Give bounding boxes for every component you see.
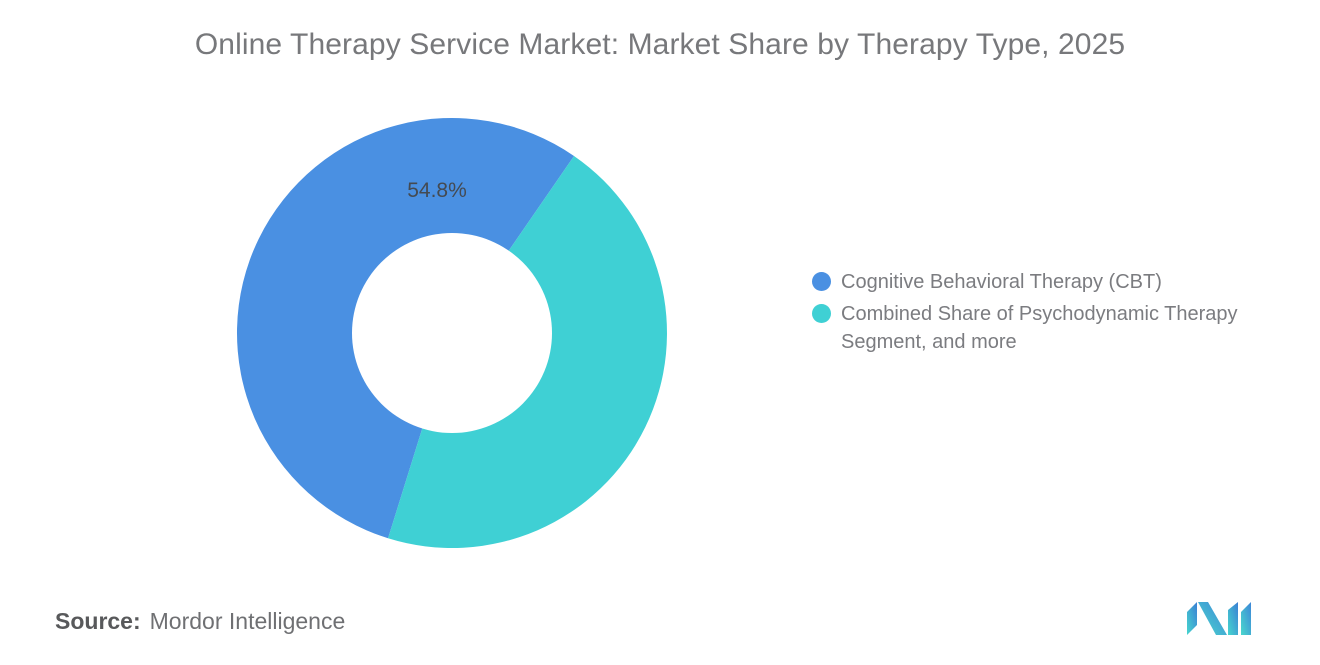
donut-chart-svg <box>237 118 667 548</box>
donut-hole <box>352 233 552 433</box>
source-value: Mordor Intelligence <box>150 608 346 635</box>
chart-page: Online Therapy Service Market: Market Sh… <box>0 0 1320 665</box>
legend-label-combined: Combined Share of Psychodynamic Therapy … <box>841 300 1298 356</box>
legend-label-cbt: Cognitive Behavioral Therapy (CBT) <box>841 268 1162 296</box>
legend: Cognitive Behavioral Therapy (CBT) Combi… <box>812 268 1298 360</box>
donut-chart: 54.8% <box>237 118 667 548</box>
legend-swatch-icon <box>812 304 831 323</box>
source-footer: Source: Mordor Intelligence <box>55 608 345 635</box>
legend-swatch-icon <box>812 272 831 291</box>
mordor-intelligence-logo-icon <box>1184 598 1254 638</box>
legend-item-cbt[interactable]: Cognitive Behavioral Therapy (CBT) <box>812 268 1298 296</box>
logo-svg <box>1184 598 1254 638</box>
source-label: Source: <box>55 608 141 635</box>
legend-item-combined[interactable]: Combined Share of Psychodynamic Therapy … <box>812 300 1298 356</box>
page-title: Online Therapy Service Market: Market Sh… <box>0 28 1320 62</box>
